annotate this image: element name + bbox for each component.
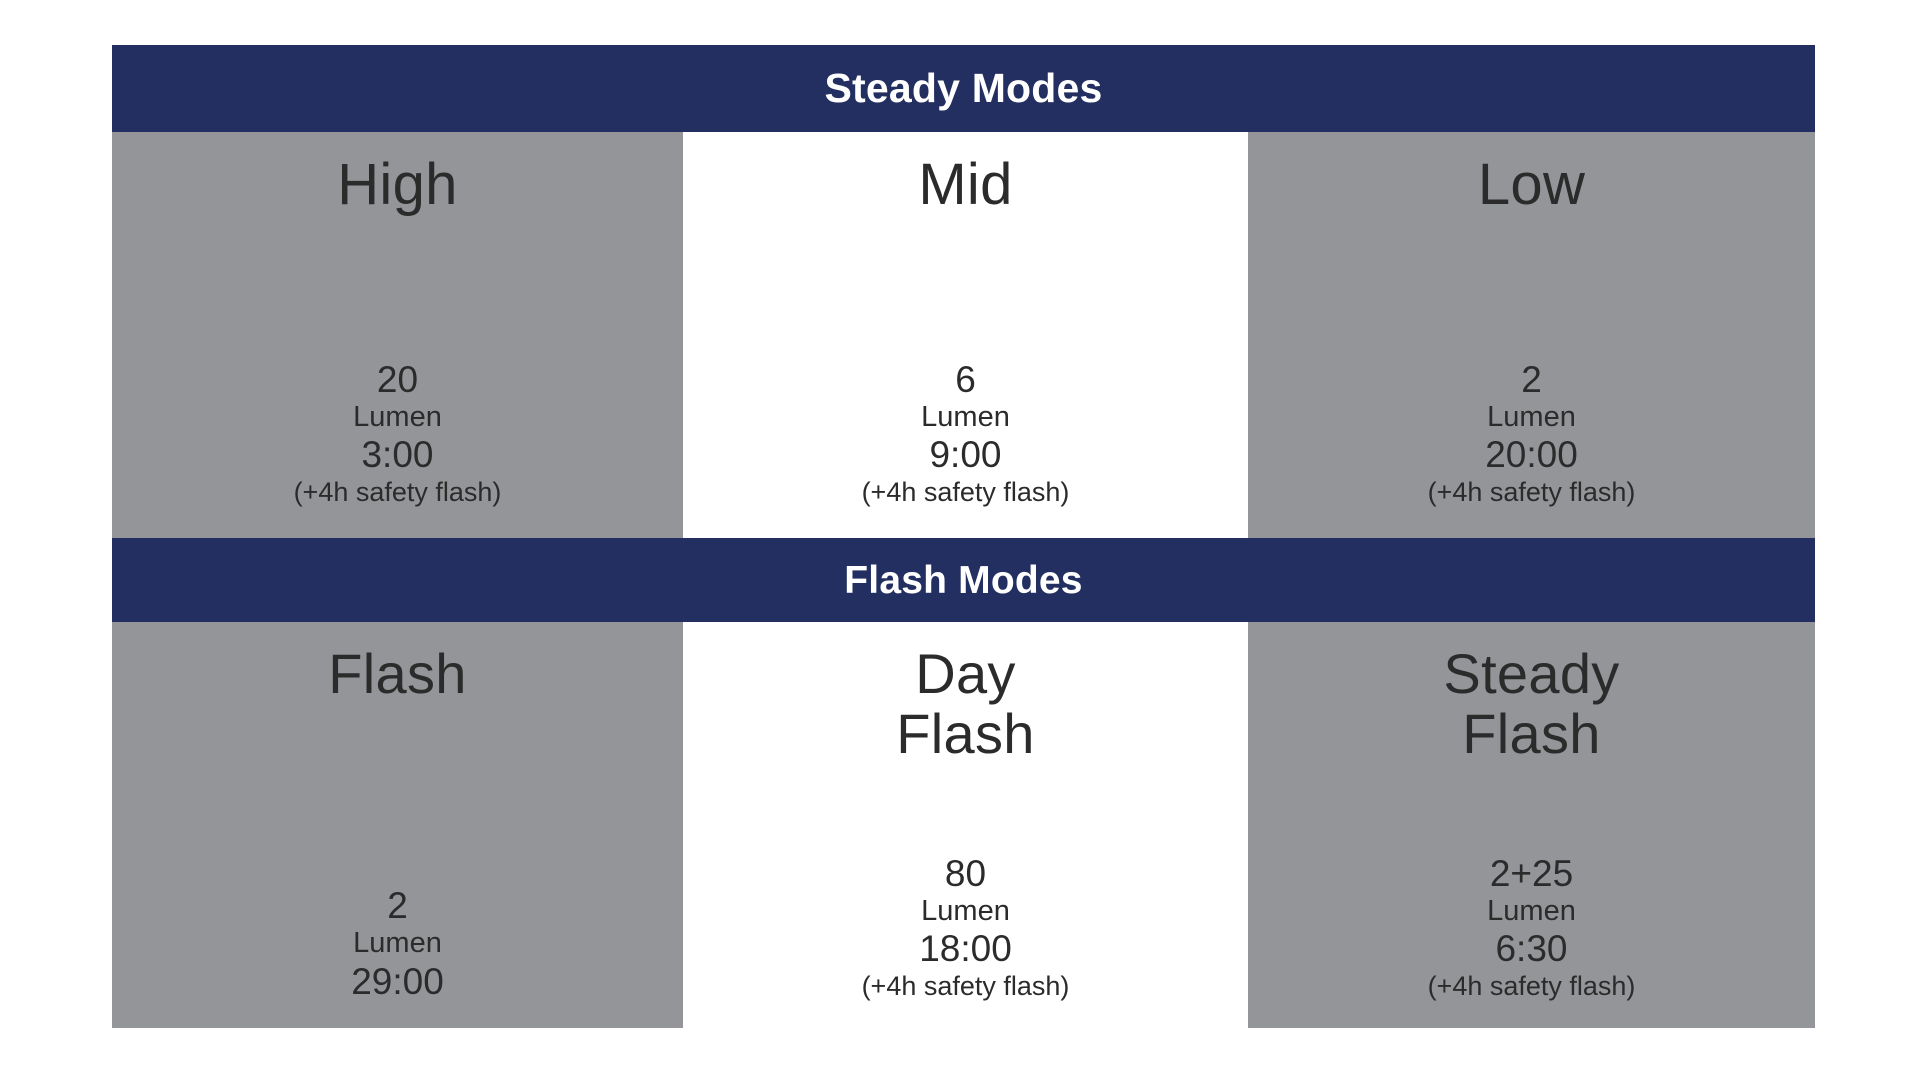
mode-lumen-value: 80: [945, 853, 986, 894]
flash-modes-row: Flash 2 Lumen 29:00 Day Flash 80 Lumen 1…: [112, 622, 1815, 1028]
mode-lumen-label: Lumen: [921, 894, 1010, 928]
mode-lumen-label: Lumen: [353, 400, 442, 434]
mode-lumen-value: 6: [955, 359, 976, 400]
mode-stats: 2 Lumen 20:00 (+4h safety flash): [1428, 359, 1636, 508]
mode-stats: 80 Lumen 18:00 (+4h safety flash): [862, 853, 1070, 1002]
light-modes-spec-table: Steady Modes High 20 Lumen 3:00 (+4h saf…: [112, 45, 1815, 1028]
section-header-steady-modes: Steady Modes: [112, 45, 1815, 132]
mode-stats: 20 Lumen 3:00 (+4h safety flash): [294, 359, 502, 508]
mode-cell-mid: Mid 6 Lumen 9:00 (+4h safety flash): [683, 132, 1248, 538]
mode-title: High: [337, 154, 458, 217]
mode-runtime: 20:00: [1485, 434, 1578, 475]
mode-title: Steady Flash: [1443, 644, 1619, 765]
mode-safety-note: (+4h safety flash): [1428, 970, 1636, 1002]
mode-lumen-value: 2+25: [1490, 853, 1573, 894]
mode-title: Low: [1478, 154, 1585, 217]
mode-lumen-label: Lumen: [921, 400, 1010, 434]
mode-title: Flash: [328, 644, 466, 704]
mode-safety-note: (+4h safety flash): [294, 476, 502, 508]
mode-cell-flash: Flash 2 Lumen 29:00: [112, 622, 683, 1028]
mode-safety-note: (+4h safety flash): [862, 970, 1070, 1002]
mode-lumen-label: Lumen: [1487, 400, 1576, 434]
mode-title: Mid: [918, 154, 1012, 217]
mode-lumen-value: 2: [1521, 359, 1542, 400]
mode-lumen-label: Lumen: [353, 926, 442, 960]
section-header-flash-modes: Flash Modes: [112, 538, 1815, 622]
mode-cell-day-flash: Day Flash 80 Lumen 18:00 (+4h safety fla…: [683, 622, 1248, 1028]
mode-stats: 6 Lumen 9:00 (+4h safety flash): [862, 359, 1070, 508]
mode-lumen-value: 20: [377, 359, 418, 400]
mode-runtime: 9:00: [929, 434, 1001, 475]
mode-lumen-value: 2: [387, 885, 408, 926]
mode-stats: 2 Lumen 29:00: [351, 885, 444, 1002]
mode-safety-note: (+4h safety flash): [1428, 476, 1636, 508]
steady-modes-row: High 20 Lumen 3:00 (+4h safety flash) Mi…: [112, 132, 1815, 538]
mode-cell-steady-flash: Steady Flash 2+25 Lumen 6:30 (+4h safety…: [1248, 622, 1815, 1028]
mode-runtime: 29:00: [351, 961, 444, 1002]
mode-runtime: 18:00: [919, 928, 1012, 969]
mode-title: Day Flash: [896, 644, 1034, 765]
mode-lumen-label: Lumen: [1487, 894, 1576, 928]
mode-cell-high: High 20 Lumen 3:00 (+4h safety flash): [112, 132, 683, 538]
mode-runtime: 6:30: [1495, 928, 1567, 969]
mode-runtime: 3:00: [361, 434, 433, 475]
mode-cell-low: Low 2 Lumen 20:00 (+4h safety flash): [1248, 132, 1815, 538]
mode-stats: 2+25 Lumen 6:30 (+4h safety flash): [1428, 853, 1636, 1002]
mode-safety-note: (+4h safety flash): [862, 476, 1070, 508]
